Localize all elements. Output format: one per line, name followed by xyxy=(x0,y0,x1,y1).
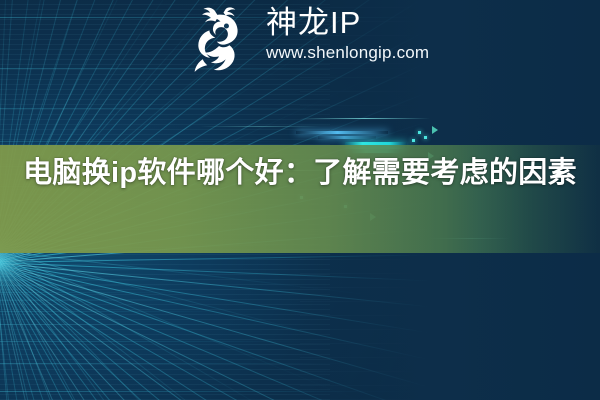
page-title: 电脑换ip软件哪个好：了解需要考虑的因素 xyxy=(0,150,600,197)
page-title-text: 电脑换ip软件哪个好：了解需要考虑的因素 xyxy=(14,150,586,197)
brand-url: www.shenlongip.com xyxy=(266,42,429,64)
brand-text: 神龙IP www.shenlongip.com xyxy=(266,4,429,64)
dragon-head-icon xyxy=(184,6,260,80)
brand-name: 神龙IP xyxy=(266,6,429,39)
promo-banner: 电脑换ip软件哪个好：了解需要考虑的因素 神龙IP www.sh xyxy=(0,0,600,400)
brand-logo: 神龙IP www.shenlongip.com xyxy=(184,4,429,80)
